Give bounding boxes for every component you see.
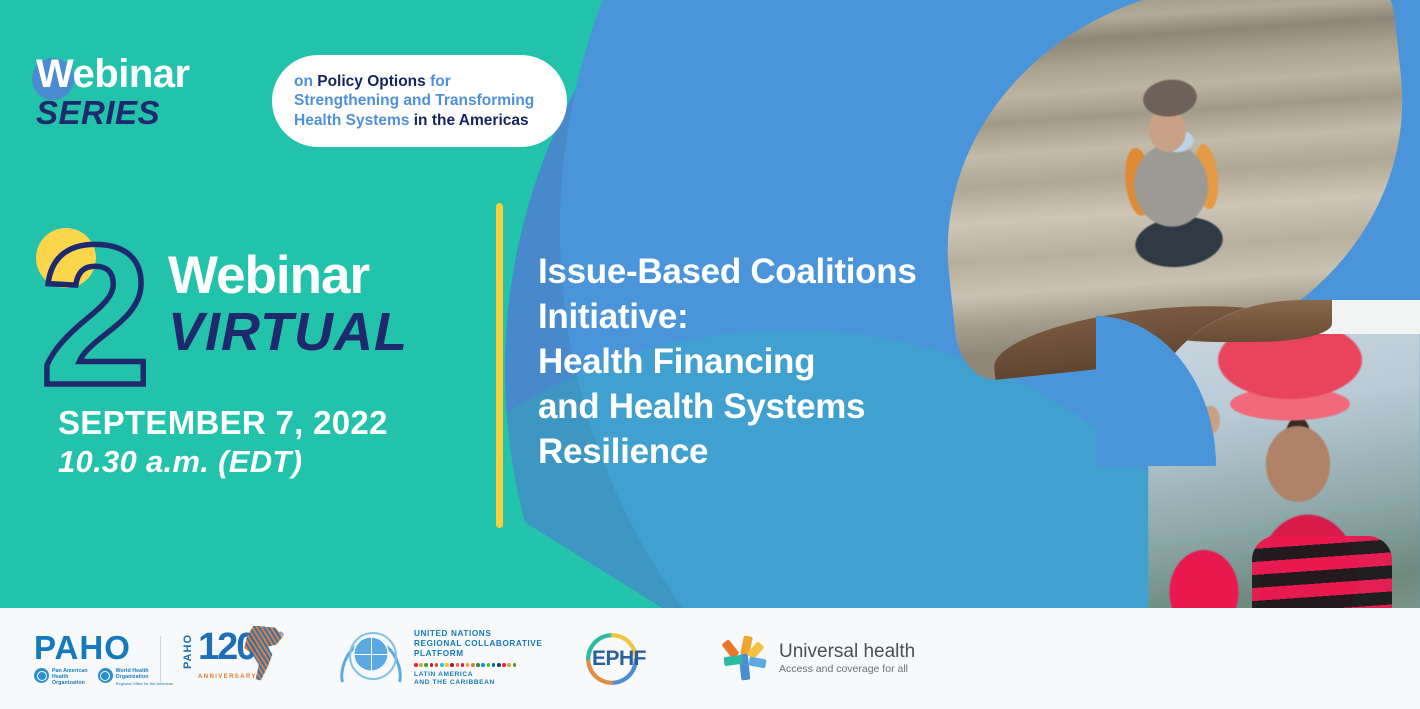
un-line-1: UNITED NATIONS (414, 629, 542, 639)
webinar-poster: Webinar SERIES on Policy Options for Str… (0, 0, 1420, 709)
paho-org-text: Pan American Health Organization (52, 668, 88, 686)
yellow-divider (496, 203, 503, 528)
sdg-dot (414, 663, 418, 667)
title-line-4: and Health Systems (538, 384, 1058, 429)
sdg-dot (492, 663, 496, 667)
paho-seal-icon (34, 668, 49, 683)
paho-pan-american-block: Pan American Health Organization (34, 668, 88, 686)
virtual-word: VIRTUAL (168, 303, 408, 361)
subtitle-pill: on Policy Options for Strengthening and … (272, 55, 567, 147)
page-title: Issue-Based Coalitions Initiative: Healt… (538, 249, 1058, 474)
universal-health-subtitle: Access and coverage for all (779, 663, 915, 676)
webinar-word: Webinar (168, 248, 408, 303)
sdg-dot (435, 663, 439, 667)
paho-who-block: World Health Organization Regional Offic… (98, 668, 173, 686)
anniversary-label: ANNIVERSARY (198, 674, 257, 680)
title-line-1: Issue-Based Coalitions (538, 249, 1058, 294)
footer-logo-bar: PAHO Pan American Health Organization Wo… (0, 608, 1420, 709)
logo-universal-health: Universal health Access and coverage for… (722, 608, 915, 709)
sdg-dot (507, 663, 511, 667)
un-emblem-icon (340, 628, 402, 690)
sdg-dot (456, 663, 460, 667)
logo-un-regional-platform: UNITED NATIONS REGIONAL COLLABORATIVE PL… (340, 608, 542, 709)
who-org-text: World Health Organization (116, 668, 173, 680)
sdg-dot (461, 663, 465, 667)
webinar-series-word: Webinar (36, 52, 190, 96)
sdg-dot (424, 663, 428, 667)
logo-paho: PAHO Pan American Health Organization Wo… (34, 608, 173, 709)
anniversary-brand: PAHO (182, 634, 194, 669)
logo-paho-120-anniversary: PAHO 120 th ANNIVERSARY (182, 608, 290, 709)
pill-part-1: on (294, 73, 317, 90)
ephf-wordmark: EPHF (592, 648, 646, 669)
event-date: SEPTEMBER 7, 2022 (58, 404, 388, 442)
sdg-dot (445, 663, 449, 667)
un-line-2: REGIONAL COLLABORATIVE (414, 639, 542, 649)
sdg-dot (476, 663, 480, 667)
svg-text:2: 2 (40, 224, 151, 404)
sdg-dot (450, 663, 454, 667)
footer-separator (160, 636, 161, 682)
pill-part-2: Policy Options (317, 73, 426, 90)
un-region-2: AND THE CARIBBEAN (414, 679, 542, 687)
universal-health-title: Universal health (779, 641, 915, 663)
paho-wordmark: PAHO (34, 631, 173, 664)
universal-health-cross-icon (722, 636, 768, 682)
webinar-virtual-block: Webinar VIRTUAL (168, 248, 408, 361)
sdg-dot (440, 663, 444, 667)
boat-edge (1148, 300, 1332, 342)
un-region-1: LATIN AMERICA (414, 671, 542, 679)
logo-ephf: EPHF (578, 608, 678, 709)
un-line-3: PLATFORM (414, 649, 542, 659)
pill-part-4: in the Americas (414, 112, 529, 129)
subtitle-pill-text: on Policy Options for Strengthening and … (272, 72, 567, 131)
sdg-dot (487, 663, 491, 667)
sdg-dot (430, 663, 434, 667)
sdg-dot (419, 663, 423, 667)
who-seal-icon (98, 668, 113, 683)
sdg-color-dots (414, 663, 542, 667)
sdg-dot (471, 663, 475, 667)
sdg-dot (466, 663, 470, 667)
sdg-dot (502, 663, 506, 667)
sdg-dot (497, 663, 501, 667)
webinar-series-sub: SERIES (36, 96, 190, 130)
event-time: 10.30 a.m. (EDT) (58, 444, 302, 480)
sdg-dot (513, 663, 517, 667)
title-line-3: Health Financing (538, 339, 1058, 384)
title-line-5: Resilience (538, 429, 1058, 474)
title-line-2: Initiative: (538, 294, 1058, 339)
webinar-series-block: Webinar SERIES (36, 52, 190, 130)
who-org-subtext: Regional Office for the Americas (116, 681, 173, 686)
sdg-dot (481, 663, 485, 667)
